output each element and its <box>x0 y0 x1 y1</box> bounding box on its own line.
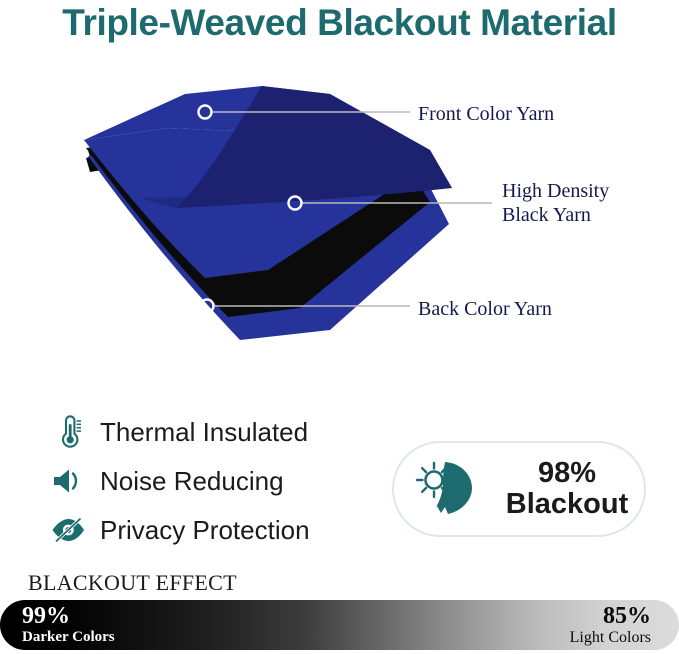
callout-label-front-color-yarn: Front Color Yarn <box>418 102 554 126</box>
sun-blocked-icon <box>410 456 484 522</box>
badge-percent: 98% <box>490 458 644 489</box>
thermometer-icon <box>48 414 88 450</box>
speaker-icon <box>48 463 88 499</box>
page-title: Triple-Weaved Blackout Material <box>0 2 679 44</box>
bar-right-text: 85% Light Colors <box>570 604 651 647</box>
feature-label: Thermal Insulated <box>100 417 308 448</box>
bar-left-text: 99% Darker Colors <box>22 604 115 646</box>
feature-label: Noise Reducing <box>100 466 284 497</box>
feature-row-privacy-protection: Privacy Protection <box>48 508 378 552</box>
callout-label-line-2: Black Yarn <box>502 203 609 227</box>
feature-label: Privacy Protection <box>100 515 310 546</box>
eye-off-icon <box>48 512 88 548</box>
feature-row-noise-reducing: Noise Reducing <box>48 459 378 503</box>
bar-right-percent: 85% <box>570 604 651 629</box>
callout-label-back-color-yarn: Back Color Yarn <box>418 297 552 321</box>
feature-list: Thermal Insulated Noise Reducing Privacy… <box>48 410 378 557</box>
bar-left-caption: Darker Colors <box>22 629 115 646</box>
badge-text: 98% Blackout <box>490 458 644 521</box>
callout-label-line-1: High Density <box>502 179 609 203</box>
feature-row-thermal-insulated: Thermal Insulated <box>48 410 378 454</box>
bar-right-caption: Light Colors <box>570 629 651 647</box>
bar-left-percent: 99% <box>22 604 115 629</box>
callout-label-high-density-black-yarn: High Density Black Yarn <box>502 179 609 228</box>
blackout-badge: 98% Blackout <box>392 441 646 537</box>
badge-word: Blackout <box>490 489 644 520</box>
blackout-effect-heading: BLACKOUT EFFECT <box>28 570 237 596</box>
